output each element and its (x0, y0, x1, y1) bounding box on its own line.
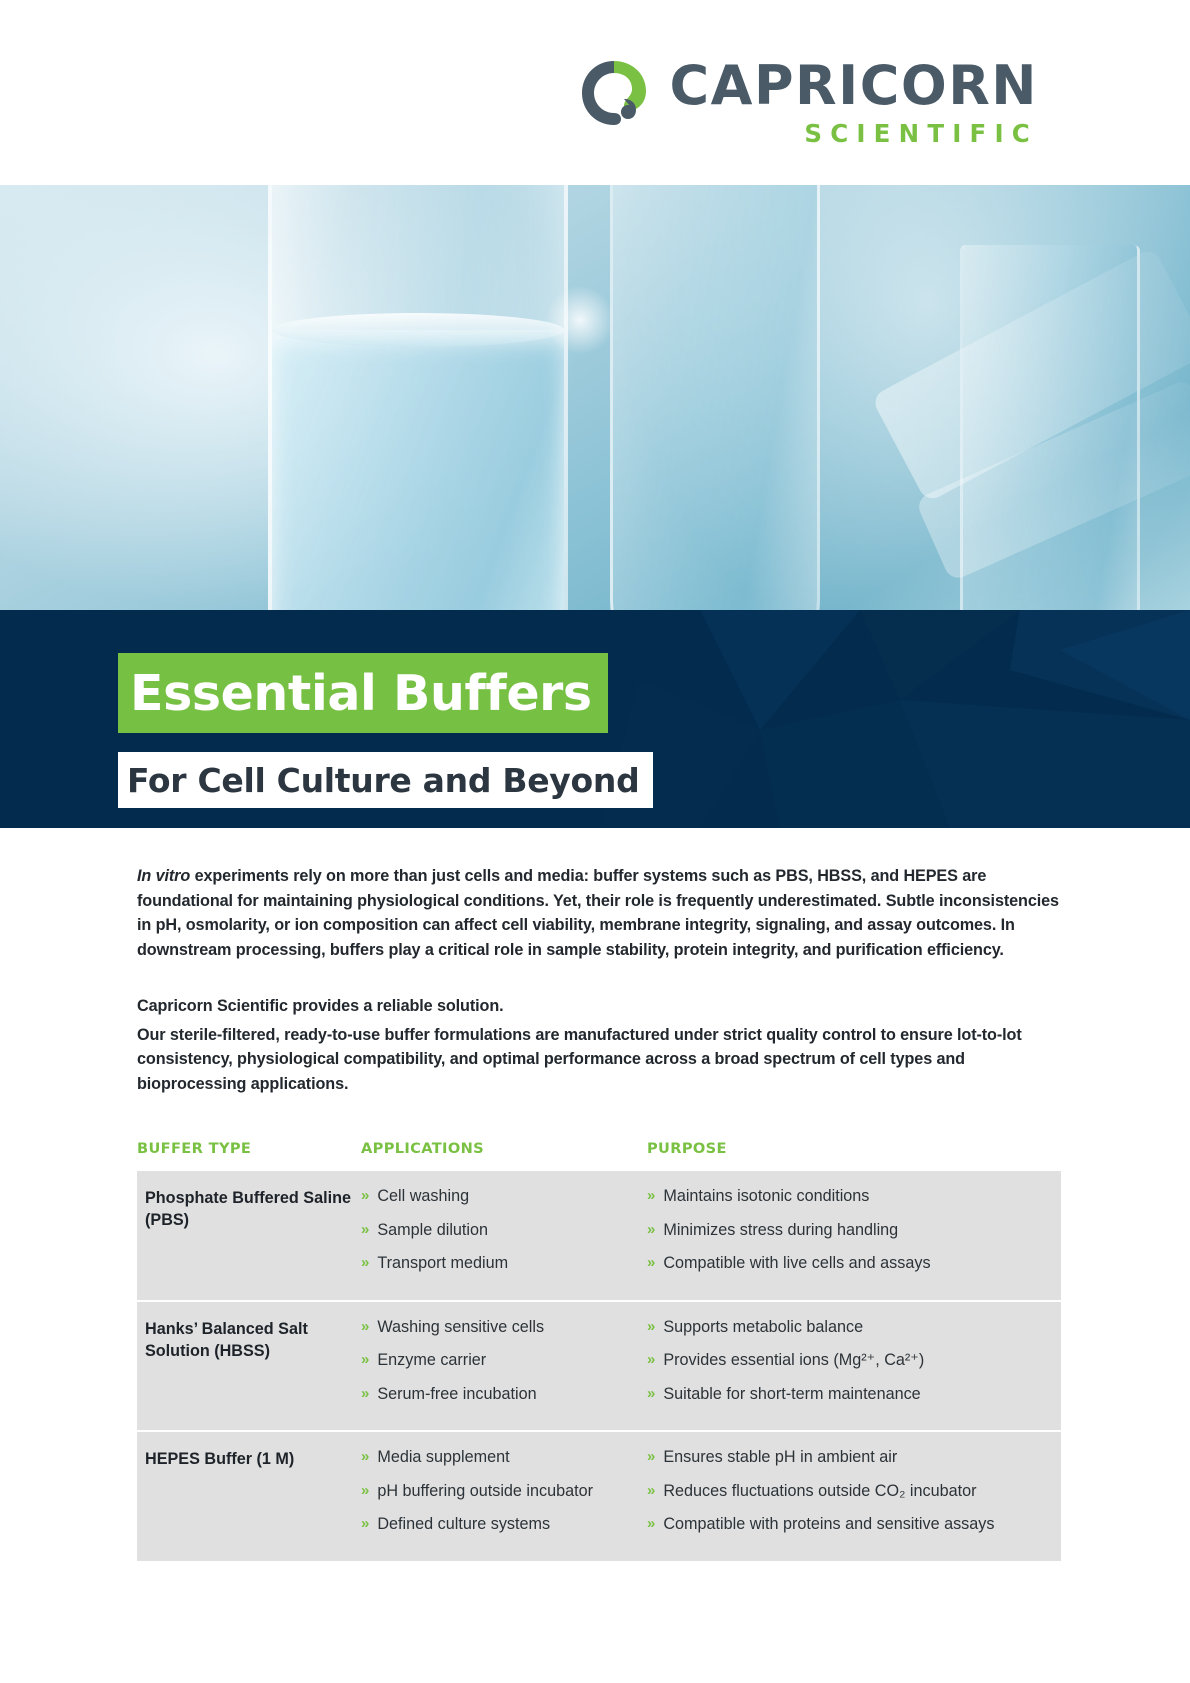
paragraph-solution-lead: Capricorn Scientific provides a reliable… (137, 994, 1061, 1019)
list-item: »Compatible with proteins and sensitive … (647, 1513, 1061, 1547)
list-item: »Washing sensitive cells (361, 1316, 647, 1350)
table-header-row: BUFFER TYPE APPLICATIONS PURPOSE (137, 1140, 1061, 1169)
intro-copy: In vitro experiments rely on more than j… (129, 864, 1061, 1096)
list-item: »Defined culture systems (361, 1513, 647, 1547)
list-item: »Minimizes stress during handling (647, 1219, 1061, 1253)
chevron-right-icon: » (647, 1185, 655, 1207)
list-item-label: Sample dilution (377, 1219, 488, 1241)
list-item-label: Minimizes stress during handling (663, 1219, 898, 1241)
list-item: »Suitable for short-term maintenance (647, 1383, 1061, 1417)
table-row: Phosphate Buffered Saline (PBS) »Cell wa… (137, 1169, 1061, 1300)
buffer-table: BUFFER TYPE APPLICATIONS PURPOSE Phospha… (129, 1140, 1061, 1561)
list-item-label: Defined culture systems (377, 1513, 550, 1535)
page-content: In vitro experiments rely on more than j… (0, 828, 1190, 1561)
column-header-purpose: PURPOSE (647, 1140, 1061, 1157)
list-item: »Enzyme carrier (361, 1349, 647, 1383)
page-header: CAPRICORN SCIENTIFIC (0, 0, 1190, 185)
chevron-right-icon: » (647, 1480, 655, 1502)
buffer-name-hepes: HEPES Buffer (1 M) (137, 1446, 361, 1547)
list-item-label: Serum-free incubation (377, 1383, 536, 1405)
title-banner: Essential Buffers For Cell Culture and B… (0, 610, 1190, 828)
chevron-right-icon: » (361, 1513, 369, 1535)
list-item: »pH buffering outside incubator (361, 1480, 647, 1514)
list-item-label: Supports metabolic balance (663, 1316, 863, 1338)
list-item: »Ensures stable pH in ambient air (647, 1446, 1061, 1480)
chevron-right-icon: » (647, 1446, 655, 1468)
list-item: »Transport medium (361, 1252, 647, 1286)
list-item-label: Washing sensitive cells (377, 1316, 544, 1338)
list-item: »Sample dilution (361, 1219, 647, 1253)
chevron-right-icon: » (361, 1446, 369, 1468)
purpose-hbss: »Supports metabolic balance »Provides es… (647, 1316, 1061, 1417)
paragraph-intro-text: experiments rely on more than just cells… (137, 867, 1059, 959)
table-row: HEPES Buffer (1 M) »Media supplement »pH… (137, 1430, 1061, 1561)
list-item-label: Compatible with proteins and sensitive a… (663, 1513, 994, 1535)
list-item-label: Maintains isotonic conditions (663, 1185, 869, 1207)
page-subtitle: For Cell Culture and Beyond (118, 752, 653, 808)
italic-in-vitro: In vitro (137, 867, 190, 885)
chevron-right-icon: » (647, 1316, 655, 1338)
chevron-right-icon: » (361, 1252, 369, 1274)
tube-liquid (272, 330, 564, 610)
chevron-right-icon: » (647, 1252, 655, 1274)
page-title: Essential Buffers (118, 653, 608, 733)
hero-image (0, 185, 1190, 610)
chevron-right-icon: » (361, 1219, 369, 1241)
hero-light-reflection (545, 285, 615, 355)
list-item-label: Transport medium (377, 1252, 508, 1274)
chevron-right-icon: » (647, 1219, 655, 1241)
list-item: »Cell washing (361, 1185, 647, 1219)
list-item: »Compatible with live cells and assays (647, 1252, 1061, 1286)
list-item-label: Media supplement (377, 1446, 509, 1468)
list-item-label: Reduces fluctuations outside CO₂ incubat… (663, 1480, 976, 1502)
list-item: »Serum-free incubation (361, 1383, 647, 1417)
brand-wordmark: CAPRICORN SCIENTIFIC (670, 55, 1038, 147)
paragraph-intro: In vitro experiments rely on more than j… (137, 864, 1061, 962)
chevron-right-icon: » (361, 1185, 369, 1207)
chevron-right-icon: » (361, 1349, 369, 1371)
brand-tagline: SCIENTIFIC (670, 122, 1038, 147)
chevron-right-icon: » (647, 1513, 655, 1535)
purpose-pbs: »Maintains isotonic conditions »Minimize… (647, 1185, 1061, 1286)
brand-name: CAPRICORN (670, 59, 1038, 113)
list-item: »Maintains isotonic conditions (647, 1185, 1061, 1219)
list-item-label: pH buffering outside incubator (377, 1480, 593, 1502)
list-item-label: Suitable for short-term maintenance (663, 1383, 920, 1405)
applications-pbs: »Cell washing »Sample dilution »Transpor… (361, 1185, 647, 1286)
list-item: »Media supplement (361, 1446, 647, 1480)
buffer-name-hbss: Hanks’ Balanced Salt Solution (HBSS) (137, 1316, 361, 1417)
purpose-hepes: »Ensures stable pH in ambient air »Reduc… (647, 1446, 1061, 1547)
list-item: »Supports metabolic balance (647, 1316, 1061, 1350)
tube-meniscus (272, 313, 564, 347)
table-row: Hanks’ Balanced Salt Solution (HBSS) »Wa… (137, 1300, 1061, 1431)
list-item-label: Cell washing (377, 1185, 469, 1207)
list-item: »Provides essential ions (Mg²⁺, Ca²⁺) (647, 1349, 1061, 1383)
chevron-right-icon: » (361, 1316, 369, 1338)
applications-hbss: »Washing sensitive cells »Enzyme carrier… (361, 1316, 647, 1417)
document-page: CAPRICORN SCIENTIFIC (0, 0, 1190, 1683)
chevron-right-icon: » (361, 1480, 369, 1502)
chevron-right-icon: » (361, 1383, 369, 1405)
list-item-label: Enzyme carrier (377, 1349, 486, 1371)
brand-logo: CAPRICORN SCIENTIFIC (576, 55, 1038, 147)
chevron-right-icon: » (647, 1383, 655, 1405)
capricorn-spiral-icon (576, 55, 652, 131)
title-block: Essential Buffers For Cell Culture and B… (118, 653, 653, 808)
column-header-applications: APPLICATIONS (361, 1140, 647, 1157)
list-item-label: Provides essential ions (Mg²⁺, Ca²⁺) (663, 1349, 924, 1371)
list-item-label: Ensures stable pH in ambient air (663, 1446, 897, 1468)
list-item-label: Compatible with live cells and assays (663, 1252, 930, 1274)
list-item: »Reduces fluctuations outside CO₂ incuba… (647, 1480, 1061, 1514)
column-header-buffer-type: BUFFER TYPE (137, 1140, 361, 1157)
applications-hepes: »Media supplement »pH buffering outside … (361, 1446, 647, 1547)
test-tube-middle (610, 185, 820, 610)
buffer-name-pbs: Phosphate Buffered Saline (PBS) (137, 1185, 361, 1286)
paragraph-solution-detail: Our sterile-filtered, ready-to-use buffe… (137, 1023, 1061, 1097)
chevron-right-icon: » (647, 1349, 655, 1371)
